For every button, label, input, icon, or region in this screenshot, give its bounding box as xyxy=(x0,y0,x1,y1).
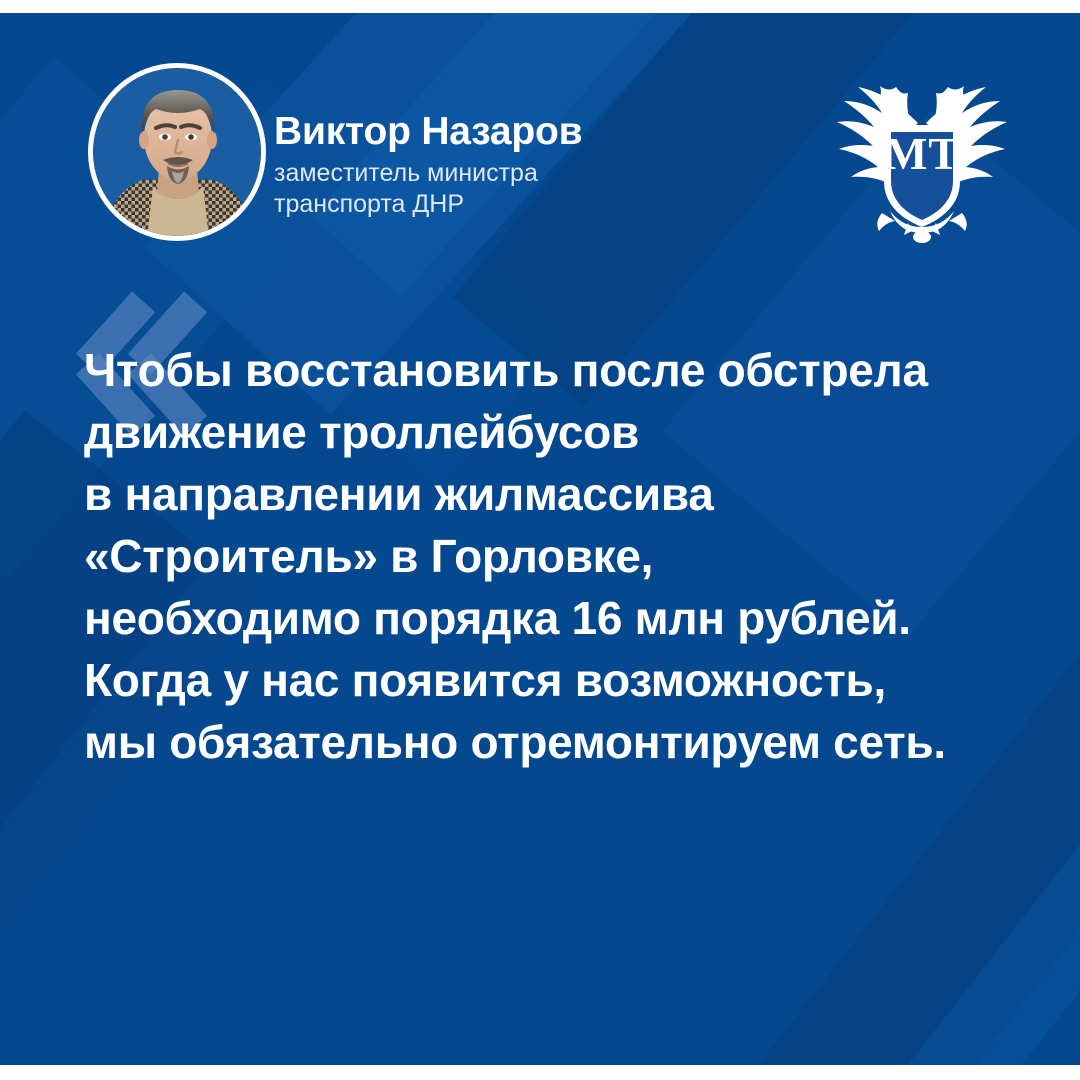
speaker-role: заместитель министра транспорта ДНР xyxy=(274,158,582,219)
quote-line: в направлении жилмассива xyxy=(84,463,1024,525)
quote-line: Чтобы восстановить после обстрела xyxy=(84,339,1024,401)
card-header: Виктор Назаров заместитель министра тран… xyxy=(0,13,1080,263)
avatar xyxy=(88,63,266,241)
quote-line: «Строитель» в Горловке, xyxy=(84,525,1024,587)
quote-line: необходимо порядка 16 млн рублей. xyxy=(84,587,1024,649)
speaker-name: Виктор Назаров xyxy=(274,111,582,152)
quote-text: Чтобы восстановить после обстрела движен… xyxy=(84,339,1024,773)
quote-line: Когда у нас появится возможность, xyxy=(84,649,1024,711)
avatar-portrait xyxy=(93,68,261,236)
ministry-emblem: МТ xyxy=(822,61,1022,251)
emblem-letters: МТ xyxy=(822,131,1022,177)
quote-line: мы обязательно отремонтируем сеть. xyxy=(84,711,1024,773)
speaker-info: Виктор Назаров заместитель министра тран… xyxy=(274,111,582,219)
quote-card: Виктор Назаров заместитель министра тран… xyxy=(0,0,1080,1080)
background-shape-decor xyxy=(857,791,1080,1065)
quote-line: движение троллейбусов xyxy=(84,401,1024,463)
card-canvas: Виктор Назаров заместитель министра тран… xyxy=(0,13,1080,1065)
